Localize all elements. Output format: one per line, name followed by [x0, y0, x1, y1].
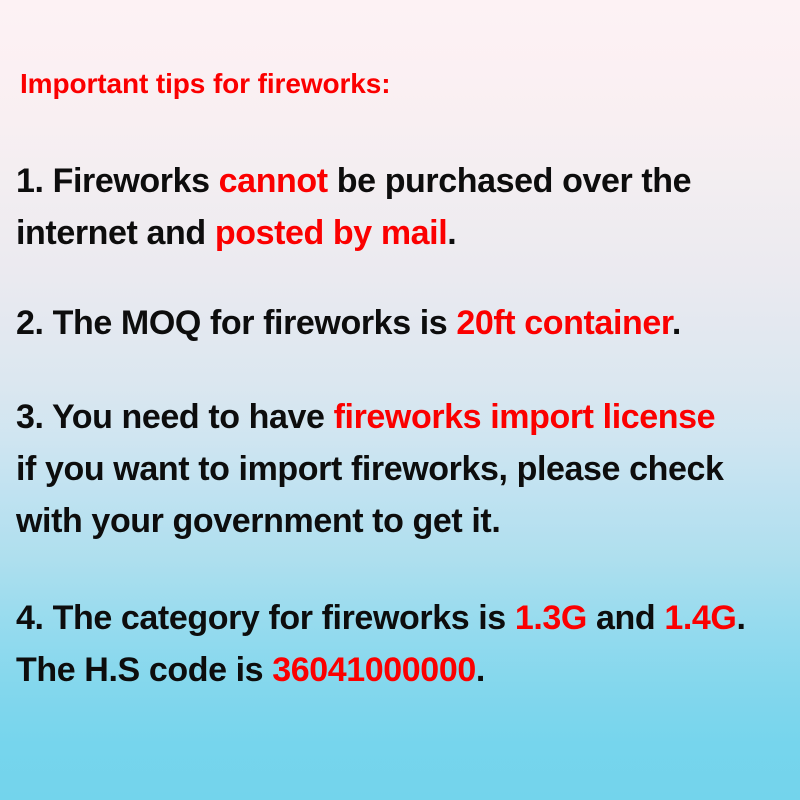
highlighted-text: 1.3G	[515, 599, 587, 637]
body-text: .	[476, 651, 485, 689]
body-text: 2. The MOQ for fireworks is	[16, 304, 456, 342]
body-text: with your government to get it.	[16, 502, 500, 540]
body-text: and	[587, 599, 664, 637]
body-text: 4. The category for fireworks is	[16, 599, 515, 637]
page-title: Important tips for fireworks:	[20, 68, 390, 100]
body-text: if you want to import fireworks, please …	[16, 450, 724, 488]
highlighted-text: 20ft container	[456, 304, 671, 342]
tip-line: 2. The MOQ for fireworks is 20ft contain…	[16, 297, 788, 349]
body-text: 3. You need to have	[16, 398, 334, 436]
tip-line: internet and posted by mail.	[16, 207, 788, 259]
fireworks-tips-poster: Important tips for fireworks: 1. Firewor…	[0, 0, 800, 800]
body-text: The H.S code is	[16, 651, 272, 689]
tip-line: if you want to import fireworks, please …	[16, 443, 788, 495]
body-text: .	[736, 599, 745, 637]
body-text: be purchased over the	[328, 162, 691, 200]
tip-item-1: 1. Fireworks cannot be purchased over th…	[16, 155, 788, 259]
tip-line: 3. You need to have fireworks import lic…	[16, 391, 788, 443]
highlighted-text: posted by mail	[215, 214, 447, 252]
tip-line: 1. Fireworks cannot be purchased over th…	[16, 155, 788, 207]
body-text: .	[672, 304, 681, 342]
highlighted-text: 36041000000	[272, 651, 476, 689]
highlighted-text: 1.4G	[664, 599, 736, 637]
tip-line: 4. The category for fireworks is 1.3G an…	[16, 592, 788, 644]
tip-item-2: 2. The MOQ for fireworks is 20ft contain…	[16, 297, 788, 349]
highlighted-text: fireworks import license	[334, 398, 716, 436]
tip-line: The H.S code is 36041000000.	[16, 644, 788, 696]
tip-item-3: 3. You need to have fireworks import lic…	[16, 391, 788, 547]
highlighted-text: cannot	[219, 162, 328, 200]
body-text: 1. Fireworks	[16, 162, 219, 200]
body-text: .	[447, 214, 456, 252]
tip-line: with your government to get it.	[16, 495, 788, 547]
body-text: internet and	[16, 214, 215, 252]
tip-item-4: 4. The category for fireworks is 1.3G an…	[16, 592, 788, 696]
